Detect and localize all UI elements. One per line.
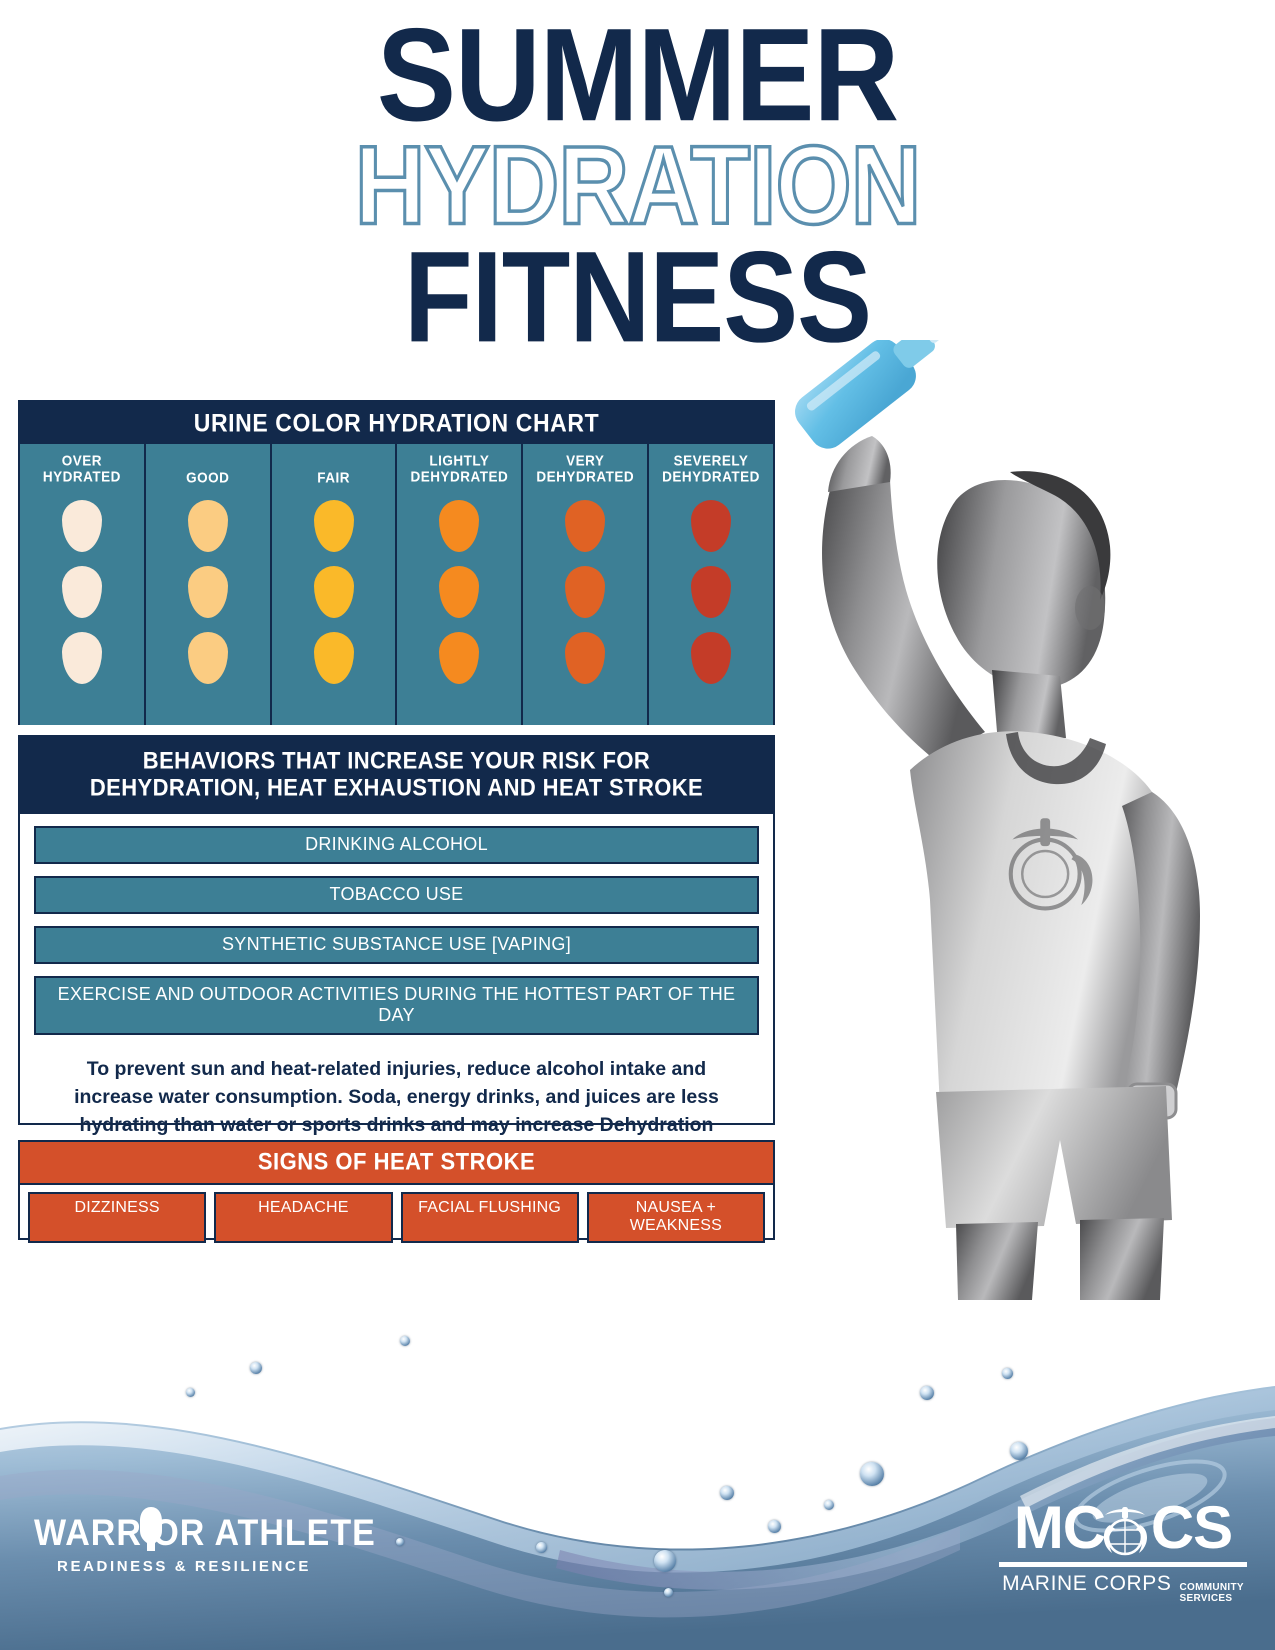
bubble [250,1362,262,1374]
urine-color-hydration-chart: URINE COLOR HYDRATION CHART OVERHYDRATED… [18,400,775,725]
chart-columns: OVERHYDRATEDGOODFAIRLIGHTLYDEHYDRATEDVER… [20,444,773,725]
chart-column-label: VERYDEHYDRATED [536,453,634,489]
behaviors-list: DRINKING ALCOHOLTOBACCO USESYNTHETIC SUB… [20,814,773,1035]
heat-stroke-sign-chip: DIZZINESS [28,1192,206,1243]
urine-color-drop-icon [188,632,228,684]
drop-group [439,500,479,684]
urine-color-drop-icon [565,566,605,618]
bubble [1010,1442,1028,1460]
mccs-wordmark-part1: MC [1014,1494,1105,1561]
urine-color-drop-icon [62,632,102,684]
urine-color-drop-icon [565,632,605,684]
hydration-infographic-poster: SUMMER HYDRATION FITNESS [0,0,1275,1650]
warrior-athlete-wordmark-part2: OR ATHLETE [152,1512,375,1554]
bubble [824,1500,834,1510]
mccs-subtitle-line2: SERVICES [1180,1593,1233,1604]
neck [992,670,1066,744]
warrior-athlete-tagline: READINESS & RESILIENCE [34,1558,334,1575]
head [937,480,1105,688]
signs-of-heat-stroke-card: SIGNS OF HEAT STROKE DIZZINESSHEADACHEFA… [18,1140,775,1240]
behaviors-header-line1: BEHAVIORS THAT INCREASE YOUR RISK FOR [36,746,757,775]
warrior-athlete-logo: WARRIOR ATHLETE READINESS & RESILIENCE [34,1516,334,1575]
mccs-subtitle: MARINE CORPS COMMUNITY SERVICES [993,1572,1253,1604]
drop-group [691,500,731,684]
bubble [400,1336,410,1346]
urine-color-drop-icon [188,566,228,618]
mccs-subtitle-community-services: COMMUNITY SERVICES [1180,1583,1244,1604]
drop-group [188,500,228,684]
drop-group [62,500,102,684]
behavior-bar: TOBACCO USE [34,876,759,914]
urine-color-drop-icon [565,500,605,552]
urine-color-drop-icon [314,632,354,684]
drop-group [314,500,354,684]
title-line-hydration: HYDRATION [0,134,1275,238]
urine-color-drop-icon [691,500,731,552]
tank-neckline [1006,732,1106,784]
eagle-globe-anchor-icon [1097,1503,1153,1559]
mccs-divider [999,1562,1247,1567]
chart-column: OVERHYDRATED [20,444,146,725]
urine-color-drop-icon [314,500,354,552]
bubble [536,1542,547,1553]
chart-column-label: OVERHYDRATED [43,453,121,489]
urine-color-drop-icon [314,566,354,618]
behavior-bar: SYNTHETIC SUBSTANCE USE [VAPING] [34,926,759,964]
chart-column: SEVERELYDEHYDRATED [649,444,773,725]
left-hand [1113,1124,1166,1176]
chart-column: FAIR [272,444,398,725]
title-line-summer: SUMMER [0,14,1275,137]
hand [828,436,891,492]
behaviors-risk-card: BEHAVIORS THAT INCREASE YOUR RISK FOR DE… [18,735,775,1125]
bubble [920,1386,934,1400]
bubble [720,1486,734,1500]
marine-drinking-water-photo [760,340,1275,1300]
signs-list: DIZZINESSHEADACHEFACIAL FLUSHINGNAUSEA +… [20,1185,773,1251]
urine-color-drop-icon [62,500,102,552]
hair [1010,471,1110,600]
mccs-subtitle-line1: COMMUNITY [1180,1582,1244,1593]
drop-group [565,500,605,684]
urine-color-drop-icon [691,632,731,684]
mccs-subtitle-marine-corps: MARINE CORPS [1002,1572,1171,1596]
poster-title: SUMMER HYDRATION FITNESS [0,14,1275,338]
ear [1075,586,1105,630]
urine-color-drop-icon [188,500,228,552]
chart-column: LIGHTLYDEHYDRATED [397,444,523,725]
chart-column: VERYDEHYDRATED [523,444,649,725]
warrior-athlete-wordmark: WARRIOR ATHLETE [34,1514,334,1551]
behaviors-header: BEHAVIORS THAT INCREASE YOUR RISK FOR DE… [20,737,773,814]
chart-column-label: LIGHTLYDEHYDRATED [411,453,509,489]
chart-column-label: GOOD [186,453,229,489]
wristwatch [1128,1084,1176,1118]
signs-header-title: SIGNS OF HEAT STROKE [20,1148,773,1176]
bubble [186,1388,195,1397]
urine-color-drop-icon [439,566,479,618]
urine-color-drop-icon [691,566,731,618]
mccs-wordmark-part2: CS [1151,1494,1232,1561]
behavior-bar: DRINKING ALCOHOL [34,826,759,864]
heat-stroke-sign-chip: FACIAL FLUSHING [401,1192,579,1243]
chart-header-title: URINE COLOR HYDRATION CHART [194,408,599,437]
heat-stroke-sign-chip: NAUSEA + WEAKNESS [587,1192,765,1243]
raised-arm [822,480,985,760]
spartan-helmet-icon [138,1507,164,1551]
bubble [396,1538,404,1546]
warrior-athlete-wordmark-part1: WARR [34,1512,142,1554]
bubble [860,1462,884,1486]
left-arm [1112,792,1200,1140]
bubble [664,1588,673,1597]
urine-color-drop-icon [439,632,479,684]
heat-stroke-sign-chip: HEADACHE [214,1192,392,1243]
urine-color-drop-icon [439,500,479,552]
eagle-globe-anchor-icon [1011,818,1093,908]
chart-column: GOOD [146,444,272,725]
bubble [768,1520,781,1533]
chart-header: URINE COLOR HYDRATION CHART [20,402,773,444]
behaviors-header-line2: DEHYDRATION, HEAT EXHAUSTION AND HEAT ST… [36,773,757,802]
chart-column-label: SEVERELYDEHYDRATED [662,453,760,489]
tank-top [910,731,1166,1108]
mccs-logo: MCOCS MARINE CORPS COMMUNITY SERVICES [993,1498,1253,1604]
urine-color-drop-icon [62,566,102,618]
chart-column-label: FAIR [317,453,350,489]
bubble [1002,1368,1013,1379]
shorts [936,1086,1172,1228]
bubble [654,1550,676,1572]
title-line-fitness: FITNESS [0,237,1275,358]
behavior-bar: EXERCISE AND OUTDOOR ACTIVITIES DURING T… [34,976,759,1035]
signs-header: SIGNS OF HEAT STROKE [20,1142,773,1185]
